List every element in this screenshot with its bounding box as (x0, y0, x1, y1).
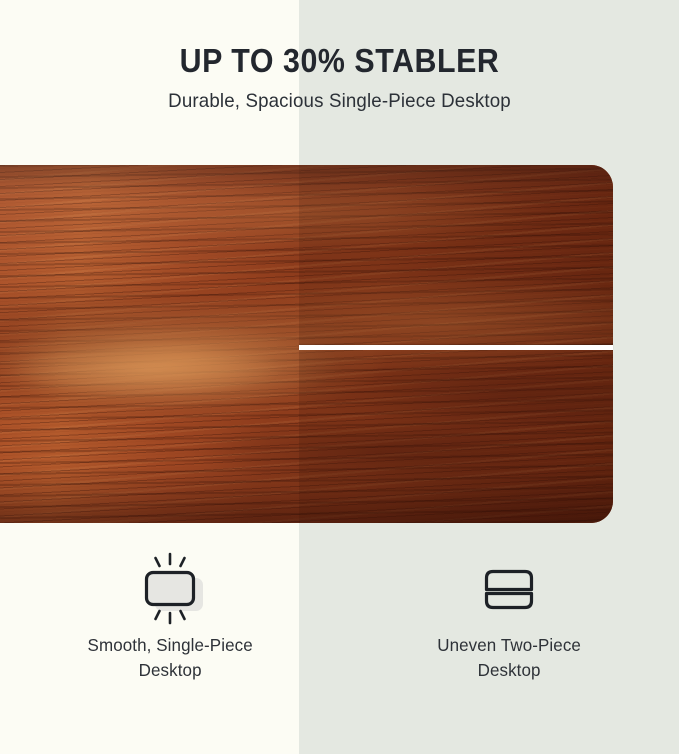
two-piece-desktop-icon (466, 549, 552, 629)
comparison-column-single-piece: Smooth, Single-Piece Desktop (0, 545, 340, 725)
two-piece-caption-line2: Desktop (478, 660, 541, 680)
two-piece-caption-line1: Uneven Two-Piece (437, 635, 581, 655)
two-piece-seam-line (299, 345, 613, 350)
sparkle-rays-top (155, 554, 184, 566)
page-subtitle: Durable, Spacious Single-Piece Desktop (14, 79, 666, 113)
single-piece-caption: Smooth, Single-Piece Desktop (87, 633, 252, 683)
comparison-column-two-piece: Uneven Two-Piece Desktop (340, 545, 679, 725)
single-piece-icon-slot (127, 545, 213, 633)
sparkle-rays-bottom (155, 611, 184, 623)
wood-sheen-overlay (0, 165, 613, 523)
lower-slab-shape (487, 594, 532, 608)
upper-slab-shape (487, 572, 532, 590)
single-piece-caption-line1: Smooth, Single-Piece (87, 635, 252, 655)
page-title: UP TO 30% STABLER (27, 0, 652, 79)
promo-banner: UP TO 30% STABLER Durable, Spacious Sing… (0, 0, 679, 754)
single-piece-desktop-icon (127, 549, 213, 629)
desktop-surface-image (0, 165, 613, 523)
two-piece-icon-slot (466, 545, 552, 633)
two-piece-caption: Uneven Two-Piece Desktop (437, 633, 581, 683)
desktop-slab-shape (146, 573, 193, 605)
header-block: UP TO 30% STABLER Durable, Spacious Sing… (0, 0, 679, 113)
single-piece-caption-line2: Desktop (138, 660, 201, 680)
comparison-row: Smooth, Single-Piece Desktop Uneven Two-… (0, 545, 679, 725)
